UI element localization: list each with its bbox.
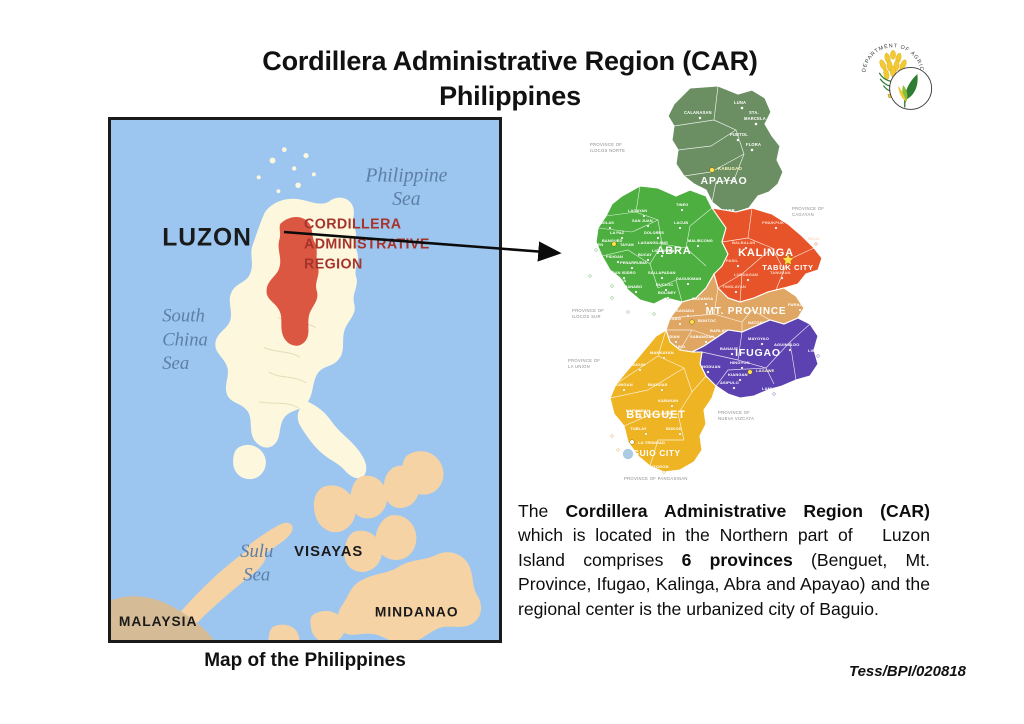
- svg-text:PROVINCE OF: PROVINCE OF: [572, 308, 604, 313]
- svg-text:LICUAN-BAAY: LICUAN-BAAY: [652, 248, 680, 253]
- leaf-medallion-icon: [890, 67, 932, 109]
- svg-text:PROVINCE OF: PROVINCE OF: [568, 358, 600, 363]
- svg-text:MANABO: MANABO: [624, 284, 642, 289]
- svg-text:BANAUE: BANAUE: [720, 346, 738, 351]
- svg-text:ILOCOS SUR: ILOCOS SUR: [572, 314, 601, 319]
- svg-text:ASIPULO: ASIPULO: [720, 380, 739, 385]
- svg-text:BUGUIAS: BUGUIAS: [648, 382, 668, 387]
- svg-text:BUCAY: BUCAY: [638, 252, 652, 257]
- svg-text:TUBO: TUBO: [644, 306, 655, 311]
- svg-text:LAGANGILANG: LAGANGILANG: [638, 240, 668, 245]
- svg-text:TUBLAY: TUBLAY: [630, 426, 647, 431]
- svg-text:LAGAYAN: LAGAYAN: [628, 208, 647, 213]
- svg-text:DANGLAS: DANGLAS: [594, 220, 614, 225]
- land-label-mindanao: MINDANAO: [375, 603, 459, 619]
- svg-text:PARACELIS: PARACELIS: [788, 302, 812, 307]
- svg-text:TAYUM: TAYUM: [620, 242, 634, 247]
- svg-text:ATOK: ATOK: [662, 410, 674, 415]
- sea-label-south-china-sea: South: [162, 306, 205, 327]
- svg-text:LISTA: LISTA: [808, 348, 820, 353]
- svg-text:China: China: [162, 329, 208, 350]
- svg-text:MAYOYAO: MAYOYAO: [748, 336, 769, 341]
- svg-text:SAGADA: SAGADA: [676, 308, 694, 313]
- svg-text:PROVINCE OF: PROVINCE OF: [792, 206, 824, 211]
- sea-label-philippine-sea: Philippine: [364, 164, 447, 186]
- author-credit: Tess/BPI/020818: [0, 663, 966, 680]
- svg-text:QUIRINO: QUIRINO: [574, 268, 591, 273]
- svg-text:AGUINALDO: AGUINALDO: [774, 342, 800, 347]
- svg-text:BOKOD: BOKOD: [666, 426, 682, 431]
- province-label-ifugao: IFUGAO: [735, 347, 781, 359]
- svg-text:SALLAPADAN: SALLAPADAN: [648, 270, 676, 275]
- svg-text:PIDIGAN: PIDIGAN: [606, 254, 623, 259]
- capital-kabugao: [710, 168, 715, 173]
- svg-text:Sea: Sea: [162, 353, 189, 374]
- svg-text:RIZAL: RIZAL: [808, 236, 821, 241]
- svg-text:SADANGA: SADANGA: [692, 296, 713, 301]
- philippines-map: Philippine Sea South China Sea Sulu Sea …: [108, 117, 502, 643]
- capital-lagawe: [748, 370, 753, 375]
- description-segment-0: The: [518, 501, 565, 521]
- car-label-line1: CORDILLERA: [304, 217, 401, 233]
- svg-text:NUEVA VIZCAYA: NUEVA VIZCAYA: [718, 416, 754, 421]
- svg-text:LANGIDEN: LANGIDEN: [582, 242, 603, 247]
- svg-text:BUCLOC: BUCLOC: [656, 282, 673, 287]
- svg-text:MALIBCONG: MALIBCONG: [688, 238, 713, 243]
- description-segment-3: 6 provinces: [682, 550, 793, 570]
- province-label-apayao: APAYAO: [700, 175, 747, 187]
- description-segment-1: Cordillera Administrative Region (CAR): [565, 501, 930, 521]
- baguio-marker: [623, 449, 633, 459]
- svg-text:LA PAZ: LA PAZ: [610, 230, 625, 235]
- svg-text:BESAO: BESAO: [666, 316, 681, 321]
- svg-text:LACUB: LACUB: [674, 220, 688, 225]
- svg-text:ILOCOS NORTE: ILOCOS NORTE: [590, 148, 625, 153]
- department-of-agriculture-logo: DEPARTMENT OF AGRICULTURE: [851, 33, 935, 117]
- svg-text:LUBUAGAN: LUBUAGAN: [734, 272, 758, 277]
- town-calanasan: CALANASAN: [684, 110, 712, 115]
- svg-text:PUDTOL: PUDTOL: [730, 132, 748, 137]
- svg-text:Sea: Sea: [392, 188, 421, 210]
- slide-page: Cordillera Administrative Region (CAR) P…: [0, 0, 1024, 724]
- svg-text:SABLAN: SABLAN: [600, 428, 618, 433]
- svg-text:DOLORES: DOLORES: [644, 230, 664, 235]
- svg-text:CAGAYAN: CAGAYAN: [792, 212, 814, 217]
- svg-text:PENARRUBIA: PENARRUBIA: [620, 260, 647, 265]
- svg-text:SAN JUAN: SAN JUAN: [632, 218, 653, 223]
- svg-text:FLORA: FLORA: [746, 142, 761, 147]
- title-line-1: Cordillera Administrative Region (CAR): [262, 46, 757, 76]
- svg-text:PROVINCE OF: PROVINCE OF: [590, 142, 622, 147]
- car-label-line2: ADMINISTRATIVE: [304, 236, 430, 252]
- svg-text:SAN ISIDRO: SAN ISIDRO: [612, 270, 636, 275]
- svg-text:LUNA: LUNA: [734, 100, 746, 105]
- svg-text:MARCELA: MARCELA: [744, 116, 766, 121]
- svg-text:KABAYAN: KABAYAN: [658, 398, 678, 403]
- svg-text:BALBALAN: BALBALAN: [732, 240, 755, 245]
- svg-text:LAGAWE: LAGAWE: [756, 368, 775, 373]
- svg-text:Sea: Sea: [243, 565, 270, 586]
- car-label-line3: REGION: [304, 256, 363, 272]
- land-label-malaysia: MALAYSIA: [119, 613, 198, 629]
- svg-text:PINUKPUK: PINUKPUK: [762, 220, 784, 225]
- svg-text:MANKAYAN: MANKAYAN: [650, 350, 674, 355]
- description-paragraph: The Cordillera Administrative Region (CA…: [518, 499, 930, 622]
- svg-text:S. SAN: S. SAN: [576, 262, 590, 267]
- svg-text:LA TRINIDAD: LA TRINIDAD: [638, 440, 665, 445]
- svg-text:BAKUN: BAKUN: [630, 362, 645, 367]
- city-label-tabuk: TABUK CITY: [762, 263, 813, 272]
- province-benguet: BENGUET MANKAYAN BAKUN KIBUNGAN BUGUIAS …: [600, 330, 716, 473]
- svg-text:PILAR: PILAR: [600, 290, 612, 295]
- svg-text:VILLAVICIOSA: VILLAVICIOSA: [598, 278, 626, 283]
- svg-text:PROVINCE OF: PROVINCE OF: [718, 410, 750, 415]
- capital-bangued: [612, 242, 617, 247]
- province-label-mt-province: MT. PROVINCE: [706, 306, 787, 317]
- svg-text:TINEG: TINEG: [676, 202, 688, 207]
- capital-bontoc: [690, 320, 695, 325]
- svg-text:TUBA: TUBA: [606, 442, 618, 447]
- land-label-visayas: VISAYAS: [294, 544, 363, 560]
- svg-text:LA UNION: LA UNION: [568, 364, 590, 369]
- svg-text:LAMUT: LAMUT: [762, 386, 777, 391]
- capital-la-trinidad: [630, 440, 635, 445]
- svg-text:BONTOC: BONTOC: [698, 318, 716, 323]
- svg-text:LUBA: LUBA: [618, 304, 629, 309]
- sea-label-sulu-sea: Sulu: [240, 541, 273, 562]
- svg-text:SABANGAN: SABANGAN: [690, 334, 714, 339]
- svg-text:STA.: STA.: [749, 110, 759, 115]
- car-province-map: APAYAO CALANASAN LUNA STA. MARCELA PUDTO…: [566, 84, 838, 482]
- svg-text:PROVINCE OF PANGASINAN: PROVINCE OF PANGASINAN: [624, 476, 688, 481]
- svg-text:DAGUIOMAN: DAGUIOMAN: [676, 276, 701, 281]
- svg-text:PASIL: PASIL: [726, 258, 739, 263]
- province-kalinga: KALINGA PINUKPUK BALBALAN RIZAL PASIL LU…: [712, 208, 822, 302]
- svg-text:ITOGON: ITOGON: [652, 464, 669, 469]
- svg-text:TINGLAYAN: TINGLAYAN: [722, 284, 746, 289]
- land-label-luzon: LUZON: [162, 225, 252, 252]
- svg-text:KABUGAO: KABUGAO: [718, 166, 742, 171]
- svg-text:KIBUNGAN: KIBUNGAN: [610, 382, 633, 387]
- svg-text:KIANGAN: KIANGAN: [728, 372, 748, 377]
- svg-text:KAPANGAN: KAPANGAN: [626, 408, 650, 413]
- svg-text:HINGYON: HINGYON: [730, 360, 750, 365]
